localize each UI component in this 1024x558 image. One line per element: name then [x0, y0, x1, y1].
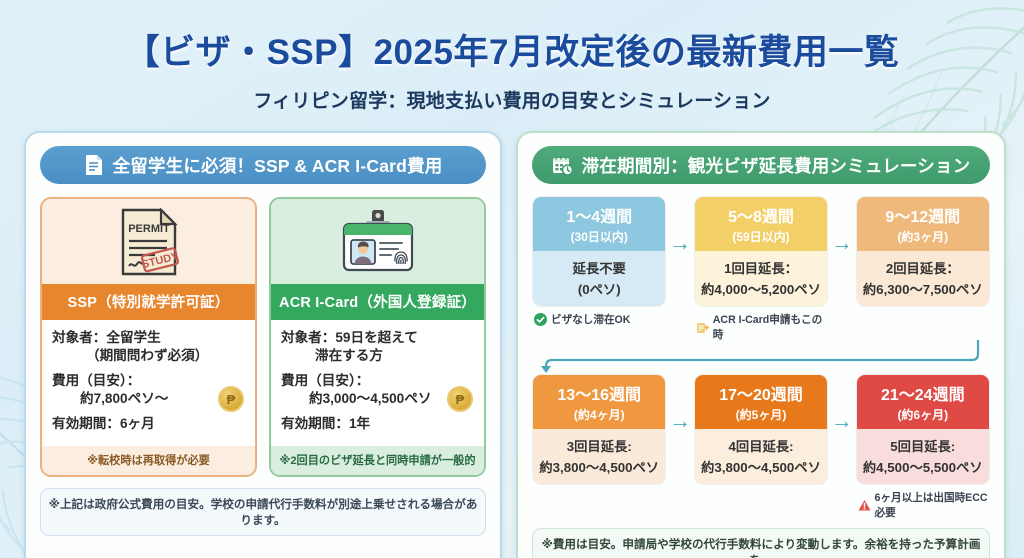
acr-icard-card: ACR I-Card（外国人登録証） 対象者：59日を超えて 滞在する方 費用（…	[269, 197, 486, 477]
visa-stage-5: 17〜20週間 (約5ヶ月) 4回目延長: 約3,800〜4,500ペソ	[694, 374, 828, 485]
visa-stage-5-weeks: 17〜20週間	[697, 381, 825, 405]
visa-stage-5-body: 4回目延長: 約3,800〜4,500ペソ	[695, 429, 827, 484]
visa-stage-6-duration: (約6ヶ月)	[859, 406, 987, 423]
visa-stage-6-line2: 約4,500〜5,500ペソ	[860, 457, 986, 476]
document-icon	[84, 154, 104, 176]
arrow-right-icon: →	[669, 232, 691, 254]
permit-document-icon: PERMIT STUDY	[117, 206, 181, 278]
visa-stage-4-line2: 約3,800〜4,500ペソ	[536, 457, 662, 476]
visa-stage-3: 9〜12週間 (約3ヶ月) 2回目延長： 約6,300〜7,500ペソ	[856, 196, 990, 307]
acr-target-label: 対象者：59日を超えて	[281, 330, 418, 345]
peso-coin-icon: ₱	[447, 386, 473, 412]
acr-row-fee: 費用（目安）： 約3,000〜4,500ペソ	[281, 372, 474, 408]
panels-container: 全留学生に必須！SSP & ACR I-Card費用 PERMIT STUDY	[0, 113, 1024, 558]
visa-stage-1-duration: (30日以内)	[535, 228, 663, 245]
visa-stage-4: 13〜16週間 (約4ヶ月) 3回目延長: 約3,800〜4,500ペソ	[532, 374, 666, 485]
visa-stage-4-weeks: 13〜16週間	[535, 381, 663, 405]
warning-triangle-icon	[858, 499, 871, 512]
visa-stage-4-body: 3回目延長: 約3,800〜4,500ペソ	[533, 429, 665, 484]
ssp-fee-label: 費用（目安）：	[52, 373, 140, 388]
visa-stage-3-line2: 約6,300〜7,500ペソ	[860, 279, 986, 298]
page-header: 【ビザ・SSP】2025年7月改定後の最新費用一覧 フィリピン留学：現地支払い費…	[0, 0, 1024, 113]
check-circle-icon	[534, 313, 547, 326]
visa-flow-wrap-connector	[534, 342, 988, 372]
arrow-right-icon: →	[831, 410, 853, 432]
visa-extension-footnote: ※費用は目安。申請局や学校の代行手数料により変動します。余裕を持った予算計画を。	[532, 528, 990, 558]
visa-arrow-1-2: →	[666, 196, 693, 290]
ssp-card-body: 対象者：全留学生 （期間問わず必須） 費用（目安）： 約7,800ペソ〜 有効期…	[42, 320, 255, 446]
visa-stage-6-weeks: 21〜24週間	[859, 381, 987, 405]
ssp-card-note: ※転校時は再取得が必要	[42, 446, 255, 475]
visa-stage-2-tag-label: ACR I-Card申請もこの時	[713, 312, 828, 342]
visa-stage-3-body: 2回目延長： 約6,300〜7,500ペソ	[857, 251, 989, 306]
visa-stage-6-tag-label: 6ヶ月以上は出国時ECC必要	[875, 490, 990, 520]
visa-stage-2-duration: (59日以内)	[697, 228, 825, 245]
card-plus-icon	[696, 321, 709, 334]
visa-stage-6: 21〜24週間 (約6ヶ月) 5回目延長: 約4,500〜5,500ペソ 6ヶ月…	[856, 374, 990, 520]
visa-arrow-4-5: →	[666, 374, 693, 468]
acr-target-indent: 滞在する方	[281, 347, 474, 365]
acr-fee-label: 費用（目安）：	[281, 373, 369, 388]
acr-validity-label: 有効期間：1年	[281, 416, 370, 431]
ssp-illustration: PERMIT STUDY	[42, 199, 255, 284]
visa-stage-2-weeks: 5〜8週間	[697, 203, 825, 227]
ssp-acr-footnote: ※上記は政府公式費用の目安。学校の申請代行手数料が別途上乗せされる場合があります…	[40, 488, 486, 536]
fee-cards: PERMIT STUDY SSP（特別就学許可証） 対象者：全留学生 （期間問わ…	[40, 197, 486, 477]
arrow-right-icon: →	[669, 410, 691, 432]
acr-card-title: ACR I-Card（外国人登録証）	[271, 284, 484, 320]
visa-stage-2-line1: 1回目延長：	[698, 258, 824, 277]
visa-extension-panel: 滞在期間別：観光ビザ延長費用シミュレーション 1〜4週間 (30日以内) 延長不…	[516, 131, 1006, 558]
visa-stage-4-line1: 3回目延長:	[536, 436, 662, 455]
visa-stage-6-tag: 6ヶ月以上は出国時ECC必要	[856, 490, 990, 520]
page-title: 【ビザ・SSP】2025年7月改定後の最新費用一覧	[0, 24, 1024, 75]
visa-stage-1-header: 1〜4週間 (30日以内)	[533, 197, 665, 251]
ssp-row-validity: 有効期間：6ヶ月	[52, 415, 245, 433]
ssp-target-indent: （期間問わず必須）	[52, 347, 245, 365]
visa-stage-3-line1: 2回目延長：	[860, 258, 986, 277]
peso-coin-icon: ₱	[218, 386, 244, 412]
visa-stage-1-weeks: 1〜4週間	[535, 203, 663, 227]
acr-row-validity: 有効期間：1年	[281, 415, 474, 433]
visa-stage-1-line1: 延長不要	[536, 258, 662, 277]
visa-stage-1-tag: ビザなし滞在OK	[532, 312, 666, 327]
visa-stage-5-duration: (約5ヶ月)	[697, 406, 825, 423]
visa-stage-5-line1: 4回目延長:	[698, 436, 824, 455]
calendar-clock-icon	[552, 155, 573, 176]
visa-arrow-2-3: →	[828, 196, 855, 290]
ssp-acr-panel-header: 全留学生に必須！SSP & ACR I-Card費用	[40, 146, 486, 184]
visa-stage-4-duration: (約4ヶ月)	[535, 406, 663, 423]
visa-stage-2-line2: 約4,000〜5,200ペソ	[698, 279, 824, 298]
visa-stage-2: 5〜8週間 (59日以内) 1回目延長： 約4,000〜5,200ペソ ACR …	[694, 196, 828, 342]
visa-stage-2-tag: ACR I-Card申請もこの時	[694, 312, 828, 342]
visa-stage-3-weeks: 9〜12週間	[859, 203, 987, 227]
visa-extension-panel-header-label: 滞在期間別：観光ビザ延長費用シミュレーション	[582, 153, 971, 178]
ssp-acr-panel-header-label: 全留学生に必須！SSP & ACR I-Card費用	[113, 153, 443, 178]
visa-stage-2-body: 1回目延長： 約4,000〜5,200ペソ	[695, 251, 827, 306]
ssp-target-label: 対象者：全留学生	[52, 330, 161, 345]
svg-text:PERMIT: PERMIT	[128, 223, 170, 235]
page-subtitle: フィリピン留学：現地支払い費用の目安とシミュレーション	[0, 86, 1024, 113]
visa-stage-5-header: 17〜20週間 (約5ヶ月)	[695, 375, 827, 429]
ssp-validity-label: 有効期間：6ヶ月	[52, 416, 155, 431]
id-card-icon	[340, 208, 416, 276]
ssp-acr-panel: 全留学生に必須！SSP & ACR I-Card費用 PERMIT STUDY	[24, 131, 502, 558]
acr-fee-value: 約3,000〜4,500ペソ	[281, 390, 474, 408]
visa-flow-row-1: 1〜4週間 (30日以内) 延長不要 (0ペソ) ビザなし滞在OK	[532, 196, 990, 342]
visa-stage-3-header: 9〜12週間 (約3ヶ月)	[857, 197, 989, 251]
visa-stage-1-tag-label: ビザなし滞在OK	[551, 312, 630, 327]
visa-stage-3-duration: (約3ヶ月)	[859, 228, 987, 245]
visa-arrow-5-6: →	[828, 374, 855, 468]
acr-illustration	[271, 199, 484, 284]
ssp-fee-value: 約7,800ペソ〜	[52, 390, 245, 408]
visa-stage-1-line2: (0ペソ)	[536, 279, 662, 298]
ssp-row-target: 対象者：全留学生 （期間問わず必須）	[52, 329, 245, 365]
visa-stage-5-line2: 約3,800〜4,500ペソ	[698, 457, 824, 476]
ssp-row-fee: 費用（目安）： 約7,800ペソ〜	[52, 372, 245, 408]
visa-stage-6-body: 5回目延長: 約4,500〜5,500ペソ	[857, 429, 989, 484]
visa-stage-4-header: 13〜16週間 (約4ヶ月)	[533, 375, 665, 429]
visa-stage-6-header: 21〜24週間 (約6ヶ月)	[857, 375, 989, 429]
ssp-card-title: SSP（特別就学許可証）	[42, 284, 255, 320]
visa-extension-panel-header: 滞在期間別：観光ビザ延長費用シミュレーション	[532, 146, 990, 184]
acr-card-note: ※2回目のビザ延長と同時申請が一般的	[271, 446, 484, 475]
visa-stage-1-body: 延長不要 (0ペソ)	[533, 251, 665, 306]
ssp-card: PERMIT STUDY SSP（特別就学許可証） 対象者：全留学生 （期間問わ…	[40, 197, 257, 477]
visa-stage-2-header: 5〜8週間 (59日以内)	[695, 197, 827, 251]
visa-flow-row-2: 13〜16週間 (約4ヶ月) 3回目延長: 約3,800〜4,500ペソ → 1…	[532, 374, 990, 520]
wrap-arrow-icon	[534, 340, 994, 374]
visa-stage-1: 1〜4週間 (30日以内) 延長不要 (0ペソ) ビザなし滞在OK	[532, 196, 666, 327]
acr-row-target: 対象者：59日を超えて 滞在する方	[281, 329, 474, 365]
visa-stage-6-line1: 5回目延長:	[860, 436, 986, 455]
acr-card-body: 対象者：59日を超えて 滞在する方 費用（目安）： 約3,000〜4,500ペソ…	[271, 320, 484, 446]
arrow-right-icon: →	[831, 232, 853, 254]
